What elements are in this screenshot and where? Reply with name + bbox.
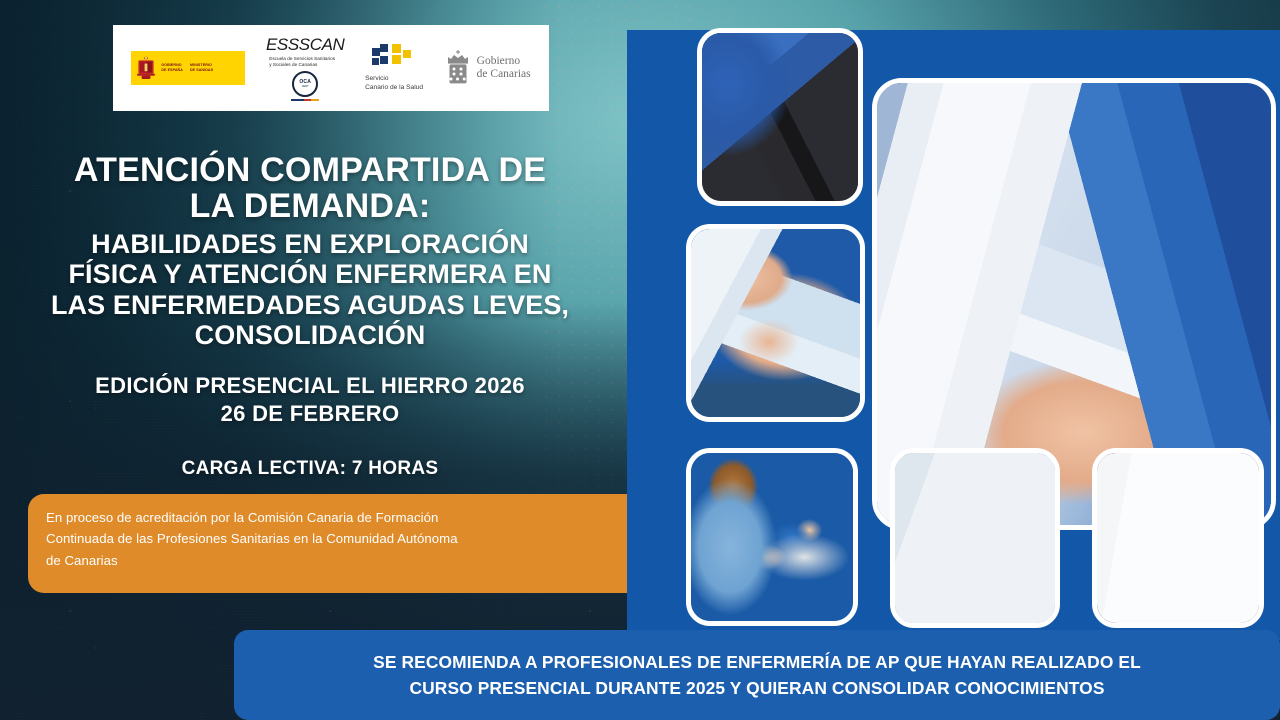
title-main-line2: LA DEMANDA: — [0, 188, 620, 224]
course-title: ATENCIÓN COMPARTIDA DE LA DEMANDA: HABIL… — [0, 152, 620, 351]
workload-hours: CARGA LECTIVA: 7 HORAS — [0, 458, 620, 480]
title-main-line1: ATENCIÓN COMPARTIDA DE — [0, 152, 620, 188]
essscan-wordmark: ESSSCAN — [266, 35, 344, 55]
oca-seal-sublabel: CERT — [302, 85, 309, 88]
essscan-subtitle-line2: y Sociales de Canarias — [269, 62, 341, 68]
logo-gobierno-de-espana: GOBIERNO DE ESPAÑA MINISTERIO DE SANIDAD — [131, 51, 245, 85]
canarias-line2: de Canarias — [477, 68, 531, 81]
logo-servicio-canario-de-la-salud: Servicio Canario de la Salud — [365, 44, 423, 93]
scs-line2: Canario de la Salud — [365, 84, 423, 93]
title-main: ATENCIÓN COMPARTIDA DE LA DEMANDA: — [0, 152, 620, 225]
recommendation-banner: SE RECOMIENDA A PROFESIONALES DE ENFERME… — [234, 630, 1280, 720]
canarias-logo-text: Gobierno de Canarias — [477, 55, 531, 81]
scs-logo-text: Servicio Canario de la Salud — [365, 75, 423, 93]
sponsor-logo-bar: GOBIERNO DE ESPAÑA MINISTERIO DE SANIDAD… — [113, 25, 549, 111]
accreditation-line1: En proceso de acreditación por la Comisi… — [46, 507, 650, 528]
title-sub-line1: HABILIDADES EN EXPLORACIÓN — [0, 229, 620, 260]
oca-seal-color-bar — [291, 99, 319, 102]
photo-abdominal-palpation-image — [691, 229, 860, 417]
scs-line1: Servicio — [365, 75, 423, 84]
photo-nurse-with-child-image — [691, 453, 853, 621]
photo-otoscope-ear-exam-image — [702, 33, 858, 201]
photo-back-palpation-image — [895, 453, 1055, 623]
edition-line1: EDICIÓN PRESENCIAL EL HIERRO 2026 — [0, 372, 620, 400]
spain-coat-of-arms-icon — [135, 55, 157, 81]
banner-line1: SE RECOMIENDA A PROFESIONALES DE ENFERME… — [373, 652, 1141, 672]
accreditation-line2: Continuada de las Profesiones Sanitarias… — [46, 528, 650, 549]
spain-flag-block: GOBIERNO DE ESPAÑA MINISTERIO DE SANIDAD — [131, 51, 245, 85]
title-sub-line2: FÍSICA Y ATENCIÓN ENFERMERA EN — [0, 259, 620, 290]
banner-line2: CURSO PRESENCIAL DURANTE 2025 Y QUIERAN … — [409, 678, 1104, 698]
edition-line2: 26 DE FEBRERO — [0, 400, 620, 428]
canarias-line1: Gobierno — [477, 55, 531, 68]
photo-stethoscope-auscultation-image — [1097, 453, 1259, 623]
photo-abdominal-palpation — [686, 224, 865, 422]
canarias-crown-shield-icon — [444, 49, 472, 87]
edition-info: EDICIÓN PRESENCIAL EL HIERRO 2026 26 DE … — [0, 372, 620, 428]
poster-root: GOBIERNO DE ESPAÑA MINISTERIO DE SANIDAD… — [0, 0, 1280, 720]
title-sub-line4: CONSOLIDACIÓN — [0, 320, 620, 351]
photo-otoscope-ear-exam — [697, 28, 863, 206]
logo-gobierno-de-canarias: Gobierno de Canarias — [444, 49, 531, 87]
scs-pixel-cross-icon — [372, 44, 416, 72]
oca-certification-seal-icon: OCA CERT — [292, 71, 318, 97]
spain-line4: DE SANIDAD — [190, 68, 213, 73]
spain-line2: DE ESPAÑA — [161, 68, 183, 73]
photo-stethoscope-auscultation — [1092, 448, 1264, 628]
essscan-subtitle: Escuela de Servicios Sanitarios y Social… — [269, 56, 341, 68]
photo-back-palpation — [890, 448, 1060, 628]
recommendation-banner-text: SE RECOMIENDA A PROFESIONALES DE ENFERME… — [373, 649, 1141, 702]
essscan-subtitle-line1: Escuela de Servicios Sanitarios — [269, 56, 341, 62]
accreditation-line3: de Canarias — [46, 550, 650, 571]
title-sub-line3: LAS ENFERMEDADES AGUDAS LEVES, — [0, 290, 620, 321]
accreditation-notice: En proceso de acreditación por la Comisi… — [28, 494, 668, 593]
title-subtitle: HABILIDADES EN EXPLORACIÓN FÍSICA Y ATEN… — [0, 229, 620, 351]
photo-nurse-with-child — [686, 448, 858, 626]
spain-logo-text: GOBIERNO DE ESPAÑA MINISTERIO DE SANIDAD — [161, 63, 213, 72]
logo-essscan: ESSSCAN Escuela de Servicios Sanitarios … — [266, 35, 344, 102]
